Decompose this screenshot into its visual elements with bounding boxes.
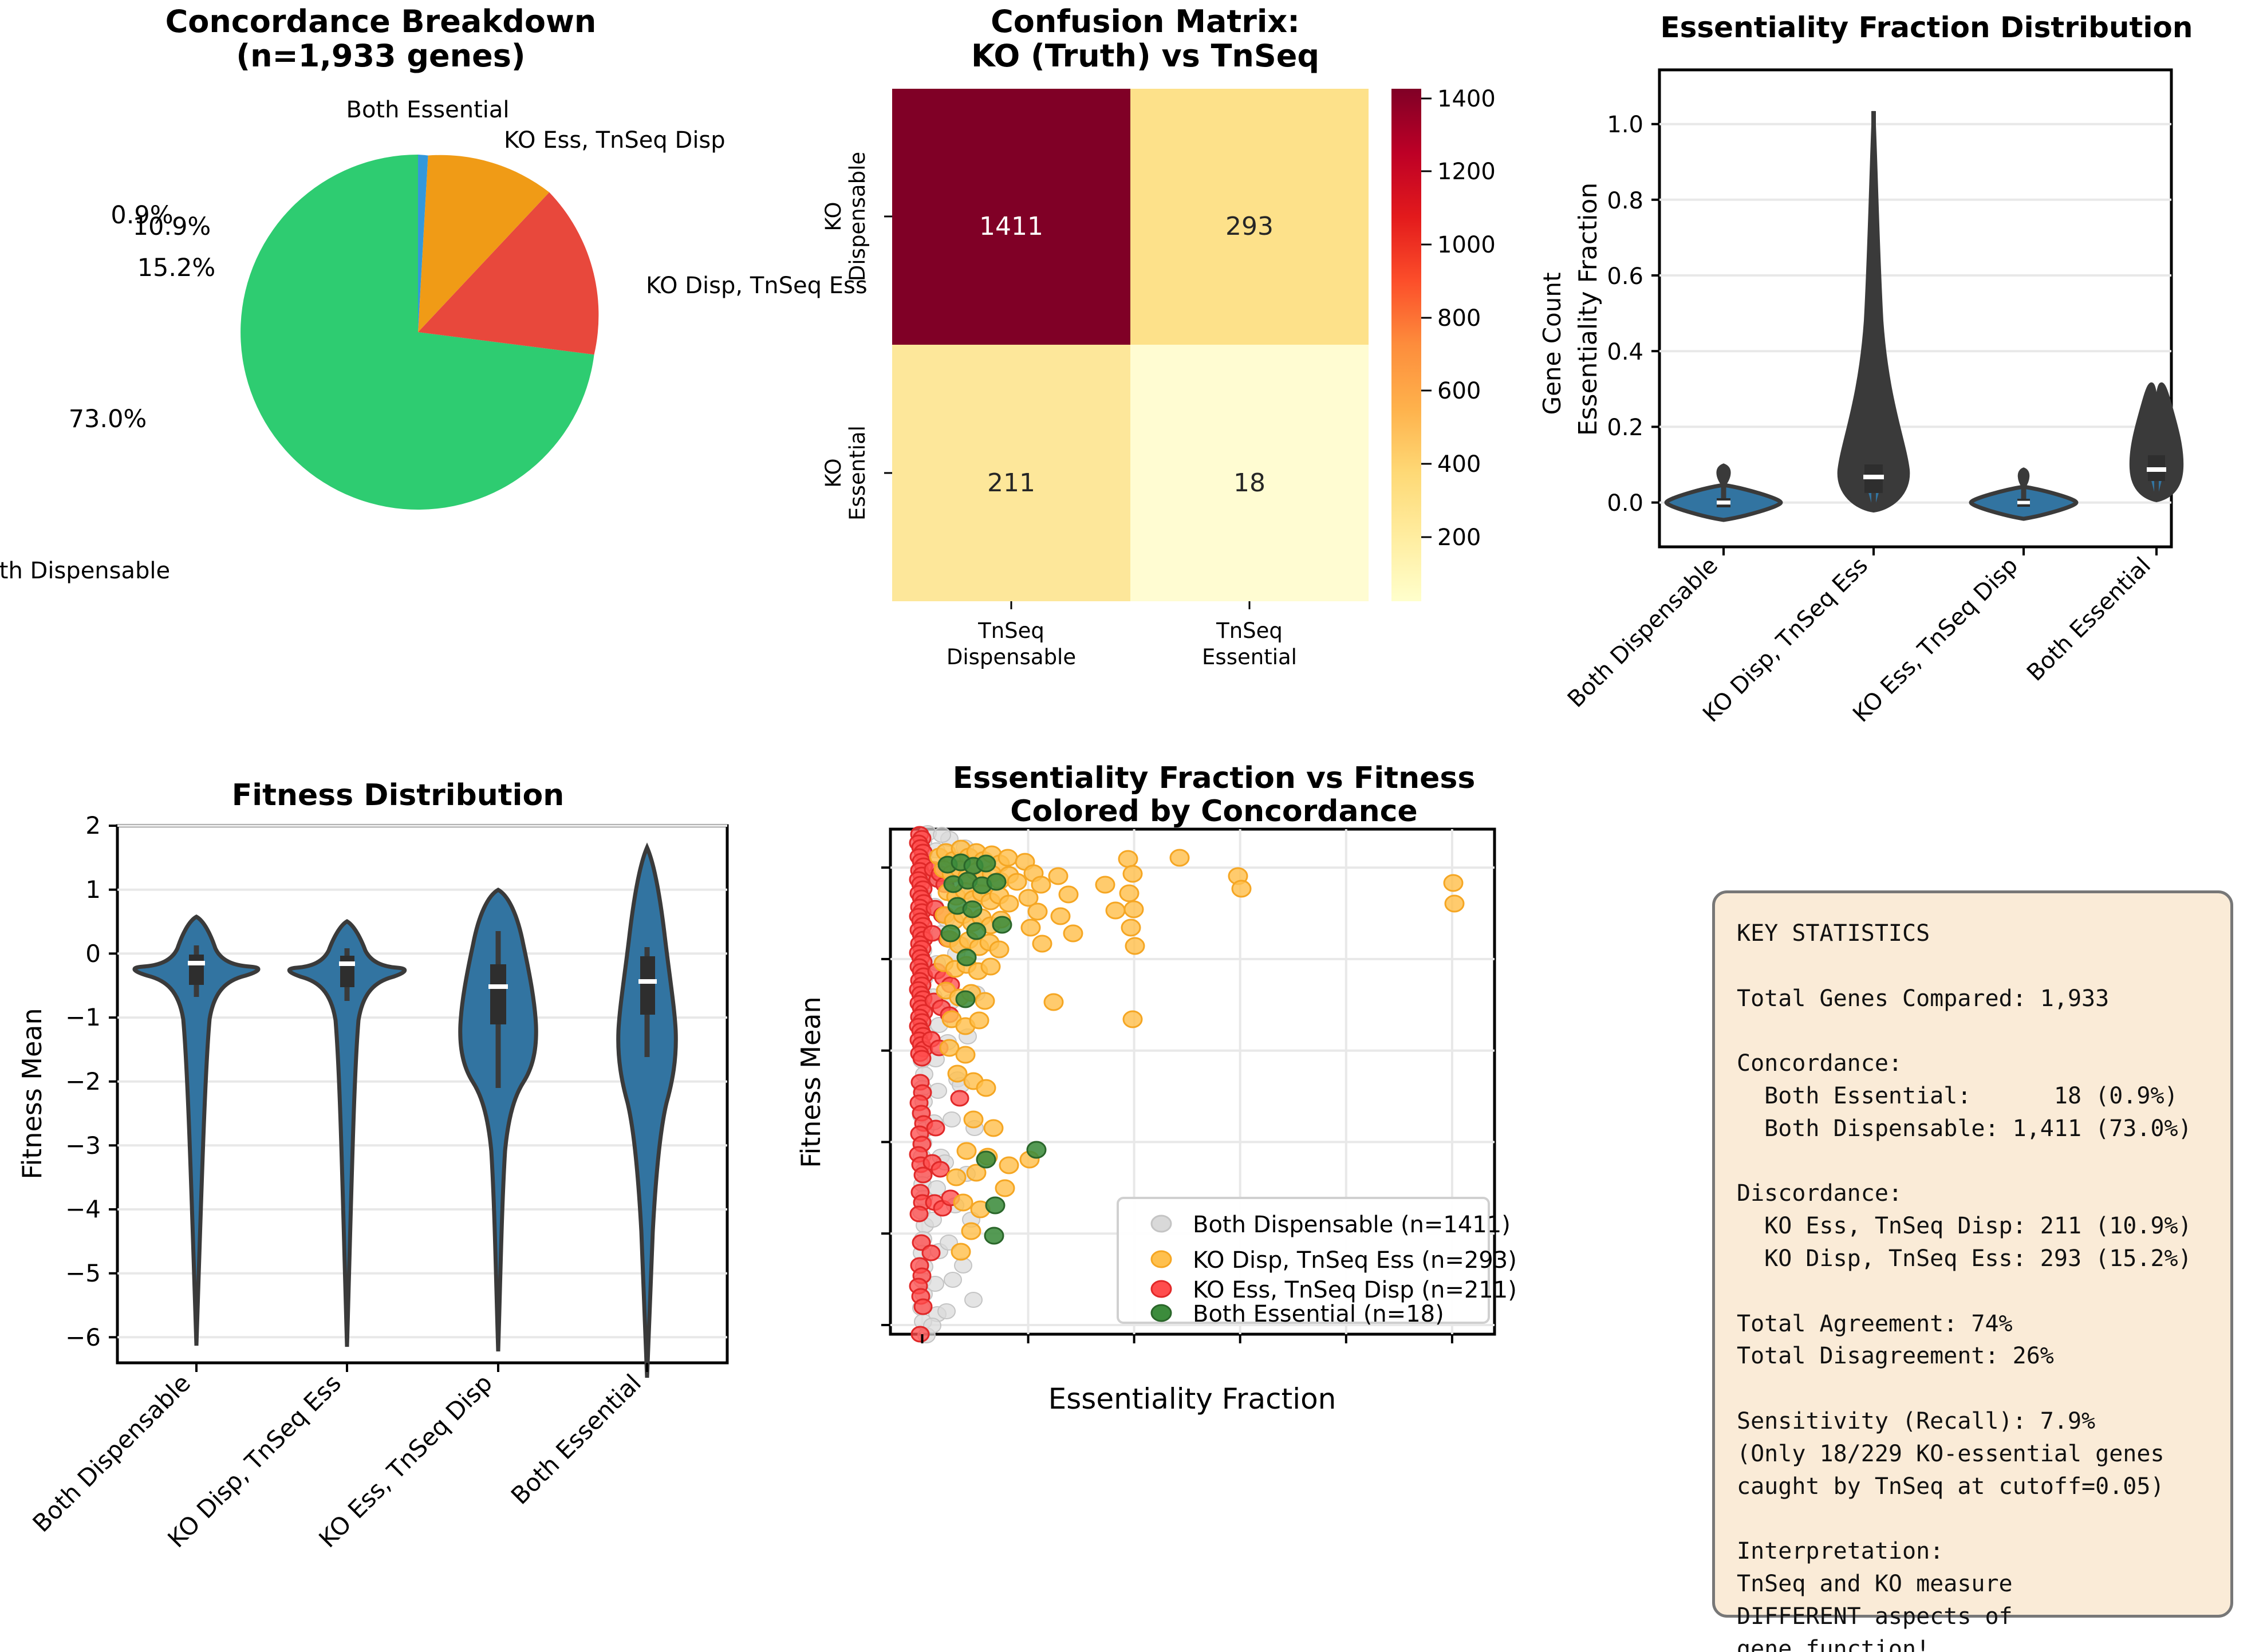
fitness-ylabel-text: Fitness Mean xyxy=(17,1008,48,1179)
pie-label-both-essential: Both Essential xyxy=(346,97,510,123)
colorbar-ticks: 1400 1200 1000 800 600 400 200 xyxy=(1421,86,1496,551)
pie-label-both-dispensable: Both Dispensable xyxy=(0,558,170,584)
colorbar-tick-800: 800 xyxy=(1437,305,1481,332)
heatmap-ylabel-1-l1: KO xyxy=(821,458,846,487)
colorbar-tick-400: 400 xyxy=(1437,451,1481,478)
legend-marker-ko-disp-tnseq-ess xyxy=(1152,1251,1171,1267)
fitness-xlabel-0: Both Dispensable xyxy=(27,1369,196,1537)
colorbar-tick-1200: 1200 xyxy=(1437,159,1496,185)
fitness-ytick-0: 0 xyxy=(85,940,101,968)
essfrac-xlabel-1: KO Disp, TnSeq Ess xyxy=(1698,553,1873,728)
colorbar-tick-1400: 1400 xyxy=(1437,86,1496,112)
pie-svg: Both Essential KO Ess, TnSeq Disp KO Dis… xyxy=(0,0,762,676)
fitness-svg: 2 1 0 −1 −2 −3 −4 −5 −6 Fitness Mean xyxy=(0,773,802,1652)
heatmap-ylabel-ko-dispensable: KO Dispensable xyxy=(821,152,870,281)
heatmap-xlabel-0-l2: Dispensable xyxy=(947,645,1076,669)
essfrac-xlabel-0: Both Dispensable xyxy=(1563,553,1723,713)
legend-marker-both-dispensable xyxy=(1152,1216,1171,1232)
fitness-xlabel-2: KO Ess, TnSeq Disp xyxy=(313,1369,498,1553)
heatmap-ylabel-0-l1: KO xyxy=(821,202,846,231)
pie-pct-ko-ess-tnseq-disp: 10.9% xyxy=(133,212,211,241)
fitness-xlabel-1: KO Disp, TnSeq Ess xyxy=(162,1369,346,1553)
pie-pct-ko-disp-tnseq-ess: 15.2% xyxy=(137,254,216,282)
figure-canvas: Concordance Breakdown (n=1,933 genes) Bo… xyxy=(0,0,2267,1652)
heatmap-value-293: 293 xyxy=(1225,212,1274,241)
heatmap-value-1411: 1411 xyxy=(979,212,1043,241)
fitness-ytick-m4: −4 xyxy=(65,1195,101,1223)
pie-pct-both-dispensable: 73.0% xyxy=(69,405,147,433)
essfrac-ytick-1: 0.2 xyxy=(1607,415,1643,441)
legend-label-ko-disp-tnseq-ess: KO Disp, TnSeq Ess (n=293) xyxy=(1193,1247,1517,1274)
legend-marker-ko-ess-tnseq-disp xyxy=(1152,1281,1171,1297)
legend-label-both-essential: Both Essential (n=18) xyxy=(1193,1301,1444,1327)
scatter-xlabel: Essentiality Fraction xyxy=(1048,1382,1336,1416)
fitness-ylabel: Fitness Mean xyxy=(17,1008,48,1179)
legend-marker-both-essential xyxy=(1152,1305,1171,1321)
essfrac-ylabel-text: Essentiality Fraction xyxy=(1574,183,1603,436)
scatter-legend[interactable]: Both Dispensable (n=1411) KO Disp, TnSeq… xyxy=(1118,1198,1517,1327)
fitness-ytick-m3: −3 xyxy=(65,1131,101,1160)
fitness-ytick-m2: −2 xyxy=(65,1067,101,1095)
essfrac-ytick-2: 0.4 xyxy=(1607,339,1643,365)
fitness-yticks: 2 1 0 −1 −2 −3 −4 −5 −6 xyxy=(65,811,117,1351)
colorbar-tick-200: 200 xyxy=(1437,525,1481,551)
essfrac-ytick-0: 0.0 xyxy=(1607,490,1643,517)
heatmap-xlabel-1-l1: TnSeq xyxy=(1216,618,1283,643)
essfrac-xlabel-2: KO Ess, TnSeq Disp xyxy=(1848,553,2023,728)
essfrac-ylabel: Essentiality Fraction xyxy=(1574,183,1603,436)
heatmap-ylabel-0-l2: Dispensable xyxy=(845,152,870,281)
essfrac-ytick-4: 0.8 xyxy=(1607,188,1643,214)
colorbar-tick-1000: 1000 xyxy=(1437,232,1496,258)
fitness-ytick-1: 1 xyxy=(85,876,101,904)
fitness-ytick-2: 2 xyxy=(85,811,101,839)
heatmap-value-211: 211 xyxy=(987,468,1035,498)
essfrac-ytick-3: 0.6 xyxy=(1607,263,1643,290)
heatmap-xlabel-tnseq-dispensable: TnSeq Dispensable xyxy=(947,618,1076,669)
essfrac-yticks: 0.0 0.2 0.4 0.6 0.8 1.0 xyxy=(1607,112,1659,517)
essfrac-plot-frame xyxy=(1659,70,2171,547)
legend-label-ko-ess-tnseq-disp: KO Ess, TnSeq Disp (n=211) xyxy=(1193,1277,1517,1303)
scatter-svg: Both Dispensable (n=1411) KO Disp, TnSeq… xyxy=(859,762,1580,1598)
fitness-ytick-m6: −6 xyxy=(65,1323,101,1351)
pie-label-ko-ess-tnseq-disp: KO Ess, TnSeq Disp xyxy=(504,127,726,153)
panel-essentiality-fraction: Essentiality Fraction Distribution 0.0 0… xyxy=(1575,0,2267,859)
fitness-ytick-m5: −5 xyxy=(65,1259,101,1287)
colorbar-label-text: Gene Count xyxy=(1538,273,1566,415)
fitness-xlabel-3: Both Essential xyxy=(506,1369,646,1509)
fitness-ytick-m1: −1 xyxy=(65,1003,101,1031)
scatter-ylabel: Fitness Mean xyxy=(795,996,826,1168)
legend-label-both-dispensable: Both Dispensable (n=1411) xyxy=(1193,1212,1511,1238)
colorbar-gradient[interactable] xyxy=(1391,89,1421,601)
heatmap-xlabel-0-l1: TnSeq xyxy=(977,618,1044,643)
essfrac-xlabels: Both Dispensable KO Disp, TnSeq Ess KO E… xyxy=(1563,553,2156,728)
essfrac-svg: 0.0 0.2 0.4 0.6 0.8 1.0 Essentiality Fra… xyxy=(1575,0,2267,859)
panel-scatter: Essentiality Fraction vs Fitness Colored… xyxy=(859,762,1580,1598)
panel-concordance-pie: Concordance Breakdown (n=1,933 genes) Bo… xyxy=(0,0,762,676)
essfrac-xlabel-3: Both Essential xyxy=(2022,553,2156,687)
essfrac-ytick-5: 1.0 xyxy=(1607,112,1643,138)
fitness-xlabels: Both Dispensable KO Disp, TnSeq Ess KO E… xyxy=(27,1369,646,1553)
heatmap-svg: 1411 293 211 18 KO Dispensable KO Essent… xyxy=(762,0,1575,762)
scatter-ylabel-text: Fitness Mean xyxy=(795,996,826,1168)
panel-fitness-distribution: Fitness Distribution 2 1 0 xyxy=(0,773,802,1652)
colorbar-tick-600: 600 xyxy=(1437,378,1481,404)
heatmap-xlabel-tnseq-essential: TnSeq Essential xyxy=(1202,618,1297,669)
heatmap-ylabel-1-l2: Essential xyxy=(845,425,870,521)
heatmap-xlabel-1-l2: Essential xyxy=(1202,645,1297,669)
key-statistics-box: KEY STATISTICS Total Genes Compared: 1,9… xyxy=(1712,890,2233,1618)
heatmap-ylabel-ko-essential: KO Essential xyxy=(821,425,870,521)
colorbar-axis-label: Gene Count xyxy=(1538,273,1566,415)
heatmap-value-18: 18 xyxy=(1233,468,1265,498)
panel-confusion-matrix: Confusion Matrix: KO (Truth) vs TnSeq xyxy=(762,0,1575,762)
